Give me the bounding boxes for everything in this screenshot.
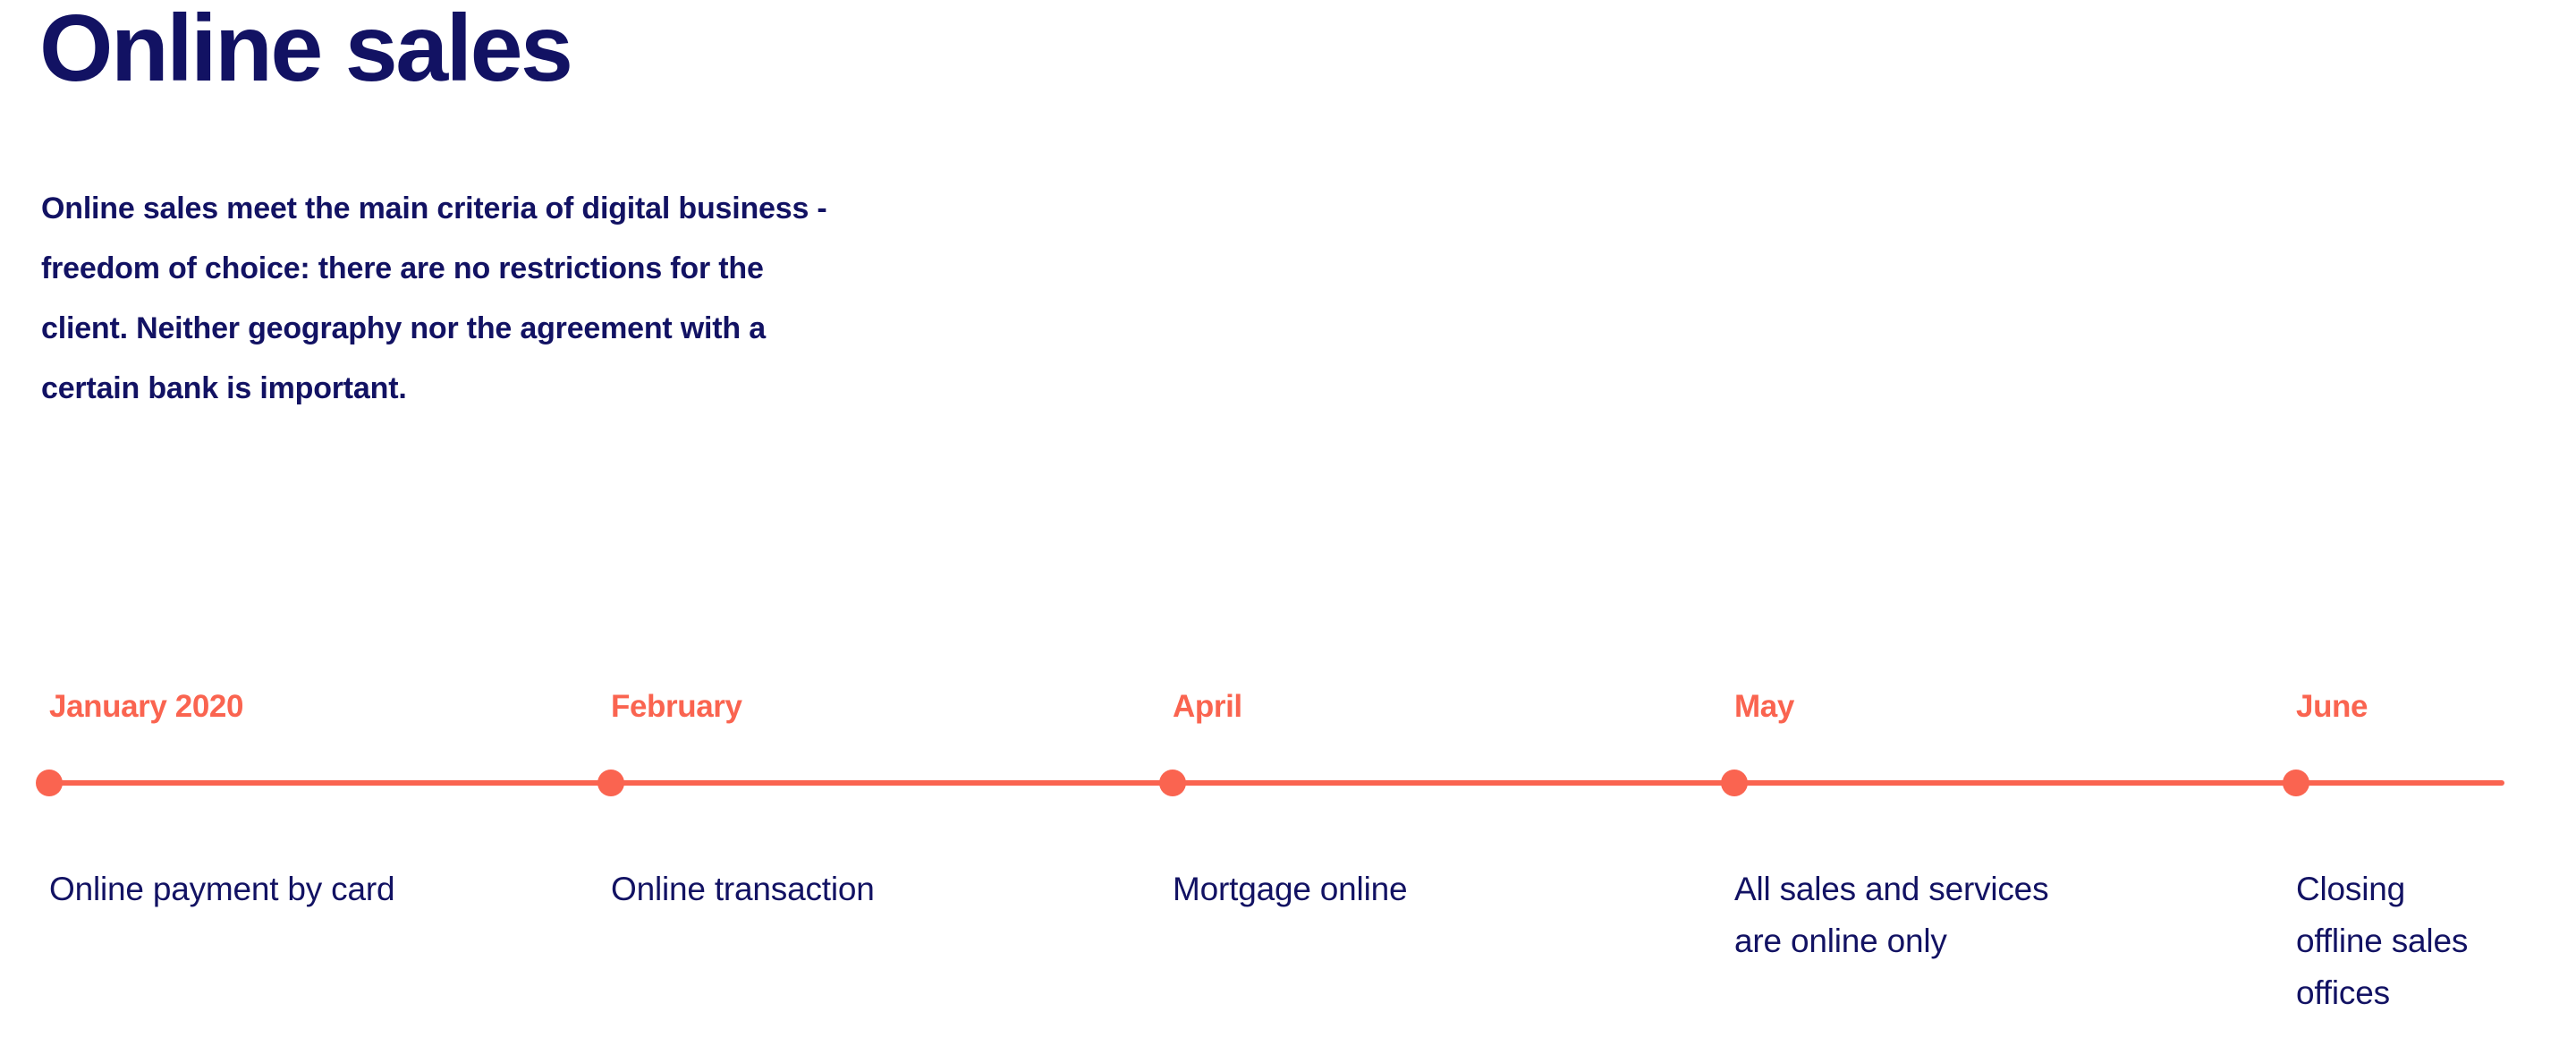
milestone-label: June <box>2296 689 2368 725</box>
timeline-milestone-may[interactable]: May All sales and services are online on… <box>1734 0 2271 1063</box>
milestone-label: January 2020 <box>49 689 243 725</box>
milestone-description-line: offices <box>2296 967 2564 1019</box>
milestone-dot-icon[interactable] <box>36 770 63 796</box>
timeline: January 2020 Online payment by card Febr… <box>0 0 2576 1063</box>
timeline-milestone-june[interactable]: June Closing offline sales offices <box>2296 0 2576 1063</box>
milestone-description-line: Closing <box>2296 863 2564 915</box>
milestone-description: Closing offline sales offices <box>2296 863 2564 1019</box>
milestone-description-line: are online only <box>1734 915 2164 967</box>
milestone-dot-icon[interactable] <box>1721 770 1748 796</box>
milestone-description-line: Online payment by card <box>49 863 479 915</box>
timeline-milestone-april[interactable]: April Mortgage online <box>1173 0 1709 1063</box>
timeline-milestone-february[interactable]: February Online transaction <box>611 0 1148 1063</box>
milestone-description: All sales and services are online only <box>1734 863 2164 967</box>
milestone-description-line: Mortgage online <box>1173 863 1602 915</box>
milestone-description: Mortgage online <box>1173 863 1602 915</box>
slide-canvas: Online sales Online sales meet the main … <box>0 0 2576 1063</box>
milestone-label: February <box>611 689 742 725</box>
milestone-dot-icon[interactable] <box>1159 770 1186 796</box>
milestone-label: May <box>1734 689 1794 725</box>
milestone-description-line: Online transaction <box>611 863 1040 915</box>
milestone-description-line: offline sales <box>2296 915 2564 967</box>
milestone-dot-icon[interactable] <box>597 770 624 796</box>
milestone-description: Online payment by card <box>49 863 479 915</box>
milestone-description-line: All sales and services <box>1734 863 2164 915</box>
timeline-milestone-january[interactable]: January 2020 Online payment by card <box>49 0 586 1063</box>
milestone-dot-icon[interactable] <box>2283 770 2309 796</box>
milestone-description: Online transaction <box>611 863 1040 915</box>
milestone-label: April <box>1173 689 1242 725</box>
